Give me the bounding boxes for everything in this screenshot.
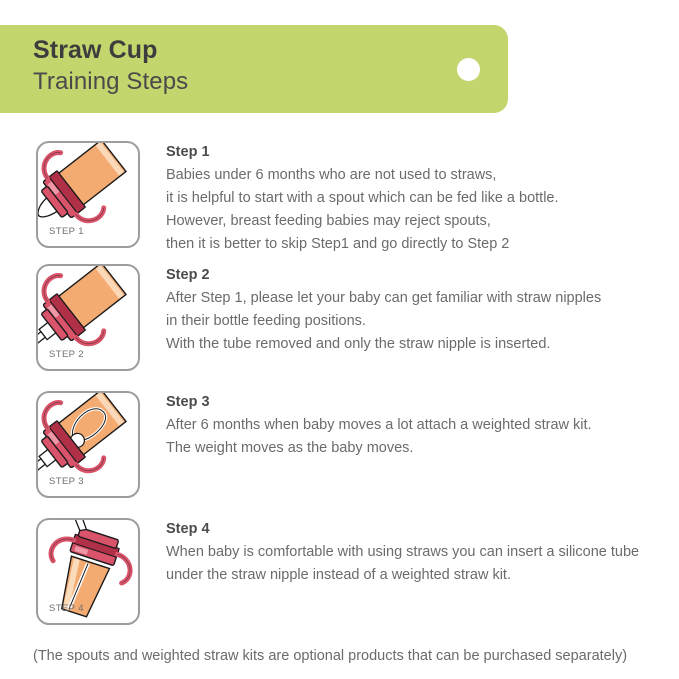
step-1-line-2: it is helpful to start with a spout whic… [166, 187, 671, 210]
step-2-text: Step 2 After Step 1, please let your bab… [166, 264, 671, 356]
step-4-heading: Step 4 [166, 518, 671, 540]
page-subtitle: Training Steps [33, 66, 188, 97]
step-1-line-4: then it is better to skip Step1 and go d… [166, 233, 671, 256]
step-2-line-1: After Step 1, please let your baby can g… [166, 287, 671, 310]
step-4-text: Step 4 When baby is comfortable with usi… [166, 518, 671, 587]
step-1-line-3: However, breast feeding babies may rejec… [166, 210, 671, 233]
step-3-box-label: STEP 3 [49, 476, 84, 487]
step-4-illustration-box: STEP 4 [36, 518, 140, 625]
step-3-text: Step 3 After 6 months when baby moves a … [166, 391, 671, 460]
punch-hole-icon [457, 58, 480, 81]
step-4-box-label: STEP 4 [49, 603, 84, 614]
step-3-heading: Step 3 [166, 391, 671, 413]
step-2-line-2: in their bottle feeding positions. [166, 310, 671, 333]
page-title: Straw Cup [33, 34, 188, 66]
header-banner: Straw Cup Training Steps [0, 25, 508, 113]
step-2-illustration-box: STEP 2 [36, 264, 140, 371]
step-3-line-2: The weight moves as the baby moves. [166, 437, 671, 460]
footer-note: (The spouts and weighted straw kits are … [33, 645, 627, 667]
step-1-line-1: Babies under 6 months who are not used t… [166, 164, 671, 187]
step-2-heading: Step 2 [166, 264, 671, 286]
step-4-line-2: under the straw nipple instead of a weig… [166, 564, 671, 587]
step-3-illustration-box: STEP 3 [36, 391, 140, 498]
step-2-box-label: STEP 2 [49, 349, 84, 360]
step-1-illustration-box: STEP 1 [36, 141, 140, 248]
step-1-box-label: STEP 1 [49, 226, 84, 237]
step-2-line-3: With the tube removed and only the straw… [166, 333, 671, 356]
header-title-block: Straw Cup Training Steps [33, 34, 188, 97]
step-1-heading: Step 1 [166, 141, 671, 163]
step-3-line-1: After 6 months when baby moves a lot att… [166, 414, 671, 437]
step-4-line-1: When baby is comfortable with using stra… [166, 541, 671, 564]
step-1-text: Step 1 Babies under 6 months who are not… [166, 141, 671, 256]
